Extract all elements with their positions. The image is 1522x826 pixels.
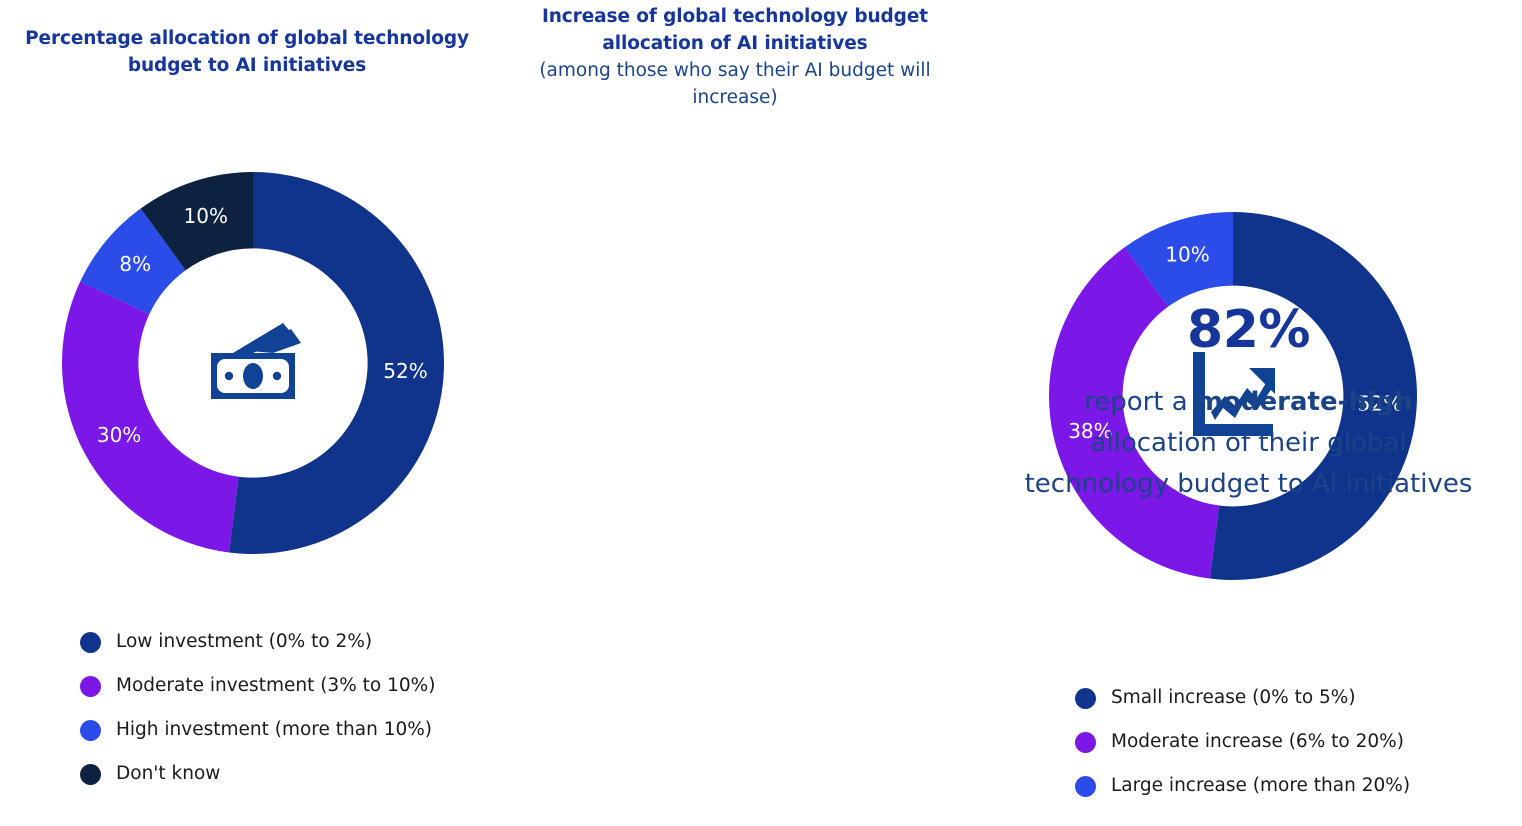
- legend-item[interactable]: Low investment (0% to 2%): [80, 620, 435, 664]
- callout-panel: 82% report a moderate-high allocation of…: [975, 0, 1522, 826]
- legend-swatch-icon: [80, 676, 101, 697]
- donut-slice-label: 10%: [184, 204, 228, 228]
- callout-line3: technology budget to AI initiatives: [1025, 469, 1473, 499]
- legend-item-label: Don't know: [116, 763, 220, 785]
- callout-text: report a moderate-high allocation of the…: [1000, 382, 1497, 505]
- donut-slice-label: 30%: [97, 423, 141, 447]
- legend-item[interactable]: High investment (more than 10%): [80, 708, 435, 752]
- increase-chart-panel: Increase of global technology budget all…: [500, 0, 970, 826]
- money-icon-svg: [197, 315, 309, 407]
- callout-block: 82% report a moderate-high allocation of…: [1000, 300, 1497, 505]
- legend-swatch-icon: [80, 632, 101, 653]
- legend-item[interactable]: Don't know: [80, 752, 435, 796]
- allocation-chart-panel: Percentage allocation of global technolo…: [0, 0, 500, 826]
- legend-item-label: Moderate investment (3% to 10%): [116, 675, 435, 697]
- legend-swatch-icon: [80, 720, 101, 741]
- legend-swatch-icon: [80, 764, 101, 785]
- allocation-chart-title: Percentage allocation of global technolo…: [22, 25, 472, 79]
- legend-item[interactable]: Moderate investment (3% to 10%): [80, 664, 435, 708]
- increase-chart-subtitle: (among those who say their AI budget wil…: [510, 57, 960, 111]
- callout-line1-emphasis: moderate-high: [1196, 387, 1413, 417]
- callout-line2: allocation of their global: [1090, 428, 1406, 458]
- allocation-donut-chart: 52%30%8%10%: [62, 172, 444, 554]
- legend-item-label: Low investment (0% to 2%): [116, 631, 372, 653]
- money-icon: [197, 315, 309, 411]
- donut-slice-label: 8%: [119, 252, 151, 276]
- increase-chart-title: Increase of global technology budget all…: [510, 3, 960, 57]
- callout-figure: 82%: [1000, 300, 1497, 360]
- donut-slice-label: 52%: [383, 359, 427, 383]
- legend-item-label: High investment (more than 10%): [116, 719, 432, 741]
- allocation-legend: Low investment (0% to 2%) Moderate inves…: [80, 620, 435, 796]
- callout-line1-prefix: report a: [1084, 387, 1196, 417]
